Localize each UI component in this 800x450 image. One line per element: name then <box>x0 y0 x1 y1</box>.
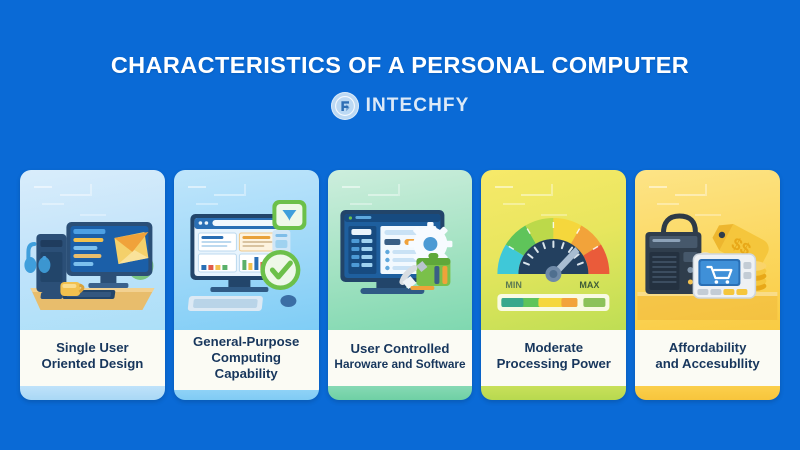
characteristics-card-row: Single User Oriented Design <box>20 170 780 400</box>
speedometer-gauge-icon: MIN MAX <box>481 170 626 330</box>
card-single-user-oriented-design[interactable]: Single User Oriented Design <box>20 170 165 400</box>
card-general-purpose-computing-capability[interactable]: General-Purpose Computing Capability <box>174 170 319 400</box>
page-title: CHARACTERISTICS OF A PERSONAL COMPUTER <box>0 52 800 79</box>
gauge-min-label: MIN <box>506 280 523 290</box>
intechfy-f-logo-icon <box>331 92 359 120</box>
card-label-line1: User Controlled <box>351 341 450 357</box>
card-footer-strip <box>635 386 780 400</box>
card-label-line1: Affordability <box>669 340 747 356</box>
card-label-line2: Computing Capability <box>179 350 314 382</box>
pc-tower-price-tag-cart-coins-icon: $$ <box>635 170 780 330</box>
desktop-computer-headphones-icon <box>20 170 165 330</box>
brand-name: INTECHFY <box>366 95 470 117</box>
card-label: General-Purpose Computing Capability <box>174 330 319 390</box>
card-label: Single User Oriented Design <box>20 330 165 386</box>
monitor-browser-checkmark-icon <box>174 170 319 330</box>
gauge-max-label: MAX <box>580 280 600 290</box>
card-label-line2: Oriented Design <box>41 356 143 372</box>
infographic-header: CHARACTERISTICS OF A PERSONAL COMPUTER I… <box>0 0 800 120</box>
card-footer-strip <box>481 386 626 400</box>
card-label-line2: Processing Power <box>497 356 611 372</box>
card-moderate-processing-power[interactable]: MIN MAX Moderate Processing Power <box>481 170 626 400</box>
card-label-line2: Haroware and Software <box>334 357 465 371</box>
card-footer-strip <box>328 386 473 400</box>
card-label: Moderate Processing Power <box>481 330 626 386</box>
card-user-controlled-hardware-and-software[interactable]: User Controlled Haroware and Software <box>328 170 473 400</box>
card-label-line1: General-Purpose <box>193 334 299 350</box>
card-label: Affordability and Accesubllity <box>635 330 780 386</box>
card-label-line1: Single User <box>56 340 129 356</box>
monitor-settings-gear-toolbox-icon <box>328 170 473 330</box>
card-footer-strip <box>174 390 319 400</box>
card-footer-strip <box>20 386 165 400</box>
card-affordability-and-accessibility[interactable]: $$ <box>635 170 780 400</box>
card-label-line1: Moderate <box>524 340 583 356</box>
card-label: User Controlled Haroware and Software <box>328 330 473 386</box>
card-label-line2: and Accesubllity <box>655 356 759 372</box>
brand-lockup: INTECHFY <box>0 92 800 120</box>
